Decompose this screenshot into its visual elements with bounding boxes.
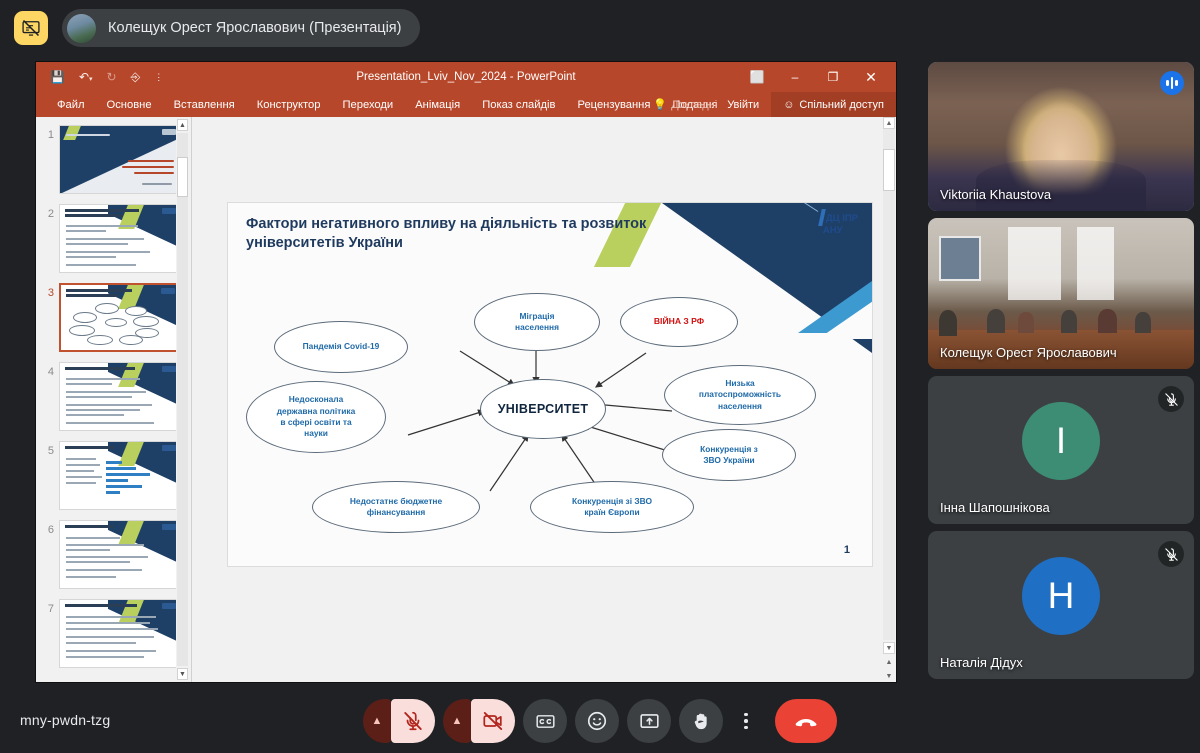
diagram-node-migration[interactable]: Міграція населення xyxy=(474,293,600,351)
slide-page-number: 1 xyxy=(844,544,850,556)
thumbnail-item-7[interactable]: 7 xyxy=(36,599,191,678)
previous-slide-button[interactable]: ▲ xyxy=(883,656,895,668)
thumbnail-preview[interactable] xyxy=(59,362,181,431)
participant-name: Наталія Дідух xyxy=(940,655,1023,670)
present-screen-icon xyxy=(639,711,660,732)
ribbon-tab-insert[interactable]: Вставлення xyxy=(163,99,246,111)
camera-off-icon xyxy=(482,710,504,732)
microphone-toggle[interactable] xyxy=(391,699,435,743)
camera-toggle[interactable] xyxy=(471,699,515,743)
diagram-node-competition-eu[interactable]: Конкуренція зі ЗВО країн Європи xyxy=(530,481,694,533)
hand-icon xyxy=(691,711,712,732)
participant-tile-koleshchuk[interactable]: Колещук Орест Ярославович xyxy=(928,218,1194,369)
thumbnail-preview[interactable] xyxy=(59,125,181,194)
scroll-down-icon[interactable]: ▼ xyxy=(177,668,188,680)
node-label: Пандемія Covid-19 xyxy=(303,341,380,352)
call-controls: ▲ ▲ xyxy=(363,699,837,743)
save-icon[interactable]: 💾 xyxy=(50,71,65,83)
scrollbar-track[interactable] xyxy=(177,133,188,666)
participant-tile-nataliia[interactable]: Н Наталія Дідух xyxy=(928,531,1194,679)
ribbon-tab-strip: Файл Основне Вставлення Конструктор Пере… xyxy=(36,92,896,117)
thumbnail-item-6[interactable]: 6 xyxy=(36,520,191,599)
share-label: Спільний доступ xyxy=(799,99,884,111)
node-label: УНІВЕРСИТЕТ xyxy=(498,401,589,418)
participant-name: Інна Шапошнікова xyxy=(940,500,1050,515)
thumbnail-item-4[interactable]: 4 xyxy=(36,362,191,441)
thumbnail-number: 4 xyxy=(40,366,54,378)
next-slide-button[interactable]: ▼ xyxy=(883,670,895,682)
speaking-indicator-icon xyxy=(1160,71,1184,95)
ribbon-tab-review[interactable]: Рецензування xyxy=(566,99,661,111)
diagram-node-budget[interactable]: Недостатнє бюджетне фінансування xyxy=(312,481,480,533)
ribbon-right-group: 💡 Докладні Увійти ☺ Спільний доступ xyxy=(653,92,896,117)
present-now-button[interactable] xyxy=(627,699,671,743)
tell-me-label: Докладні xyxy=(671,99,717,111)
diagram-node-solvency[interactable]: Низька платоспроможність населення xyxy=(664,365,816,425)
scrollbar-track[interactable] xyxy=(883,129,895,640)
hangup-icon xyxy=(793,708,819,734)
tell-me-search[interactable]: 💡 Докладні xyxy=(653,98,727,111)
participant-name: Viktoriia Khaustova xyxy=(940,187,1051,202)
mic-off-glyph xyxy=(1164,392,1179,407)
thumbnail-number: 1 xyxy=(40,129,54,141)
mic-options-chevron[interactable]: ▲ xyxy=(363,699,391,743)
emoji-icon xyxy=(586,710,608,732)
node-label: Низька платоспроможність населення xyxy=(699,378,781,412)
presenter-chip-label: Колещук Орест Ярославович (Презентація) xyxy=(108,20,402,36)
microphone-group: ▲ xyxy=(363,699,435,743)
thumbnail-pane-scrollbar[interactable]: ▲ ▼ xyxy=(176,119,189,680)
scroll-up-icon[interactable]: ▲ xyxy=(883,117,895,129)
customize-qat-icon[interactable]: ⋮ xyxy=(154,73,163,82)
thumbnail-preview-active[interactable] xyxy=(59,283,181,352)
thumbnail-preview[interactable] xyxy=(59,599,181,668)
captions-button[interactable] xyxy=(523,699,567,743)
scrollbar-thumb[interactable] xyxy=(177,157,188,197)
ribbon-display-options-button[interactable]: ⬜ xyxy=(738,63,776,91)
raise-hand-button[interactable] xyxy=(679,699,723,743)
meeting-code: mny-pwdn-tzg xyxy=(20,712,110,728)
avatar-initial: Н xyxy=(1048,575,1075,617)
node-label: Міграція населення xyxy=(515,311,559,334)
camera-options-chevron[interactable]: ▲ xyxy=(443,699,471,743)
minimize-button[interactable]: – xyxy=(776,63,814,91)
slide-editing-stage[interactable]: ДЦ ІПР АНУ Фактори негативного впливу на… xyxy=(192,117,896,682)
thumbnail-number: 2 xyxy=(40,208,54,220)
thumbnail-item-1[interactable]: 1 xyxy=(36,125,191,204)
participant-tile-inna[interactable]: І Інна Шапошнікова xyxy=(928,376,1194,524)
thumbnail-item-2[interactable]: 2 xyxy=(36,204,191,283)
ribbon-tab-home[interactable]: Основне xyxy=(96,99,163,111)
node-label: Конкуренція з ЗВО України xyxy=(700,444,758,467)
thumbnail-item-3[interactable]: 3 xyxy=(36,283,191,362)
diagram-node-university[interactable]: УНІВЕРСИТЕТ xyxy=(480,379,606,439)
ppt-workspace: 1 2 xyxy=(36,117,896,682)
undo-icon[interactable]: ↶▾ xyxy=(79,71,93,83)
window-controls: ⬜ – ❐ ✕ xyxy=(738,63,890,91)
scroll-down-icon[interactable]: ▼ xyxy=(883,642,895,654)
ribbon-tab-slideshow[interactable]: Показ слайдів xyxy=(471,99,566,111)
slide-stage-scrollbar[interactable]: ▲ ▼ ▲ ▼ xyxy=(882,117,896,682)
mic-muted-icon xyxy=(1158,386,1184,412)
thumbnail-number: 3 xyxy=(40,287,54,299)
thumbnail-preview[interactable] xyxy=(59,520,181,589)
thumbnail-number: 5 xyxy=(40,445,54,457)
reactions-button[interactable] xyxy=(575,699,619,743)
share-button[interactable]: ☺ Спільний доступ xyxy=(771,92,896,117)
present-stop-icon xyxy=(21,18,41,38)
diagram-node-state-policy[interactable]: Недосконала державна політика в сфері ос… xyxy=(246,381,386,453)
presenting-topbar: Колещук Орест Ярославович (Презентація) xyxy=(0,0,1200,56)
leave-call-button[interactable] xyxy=(775,699,837,743)
ribbon-tab-file[interactable]: Файл xyxy=(46,99,96,111)
sign-in-button[interactable]: Увійти xyxy=(727,99,771,111)
scrollbar-thumb[interactable] xyxy=(883,149,895,191)
slide-thumbnail-pane[interactable]: 1 2 xyxy=(36,117,191,682)
node-label: Недосконала державна політика в сфері ос… xyxy=(277,394,356,439)
mic-muted-icon xyxy=(1158,541,1184,567)
node-label: Недостатнє бюджетне фінансування xyxy=(350,496,442,519)
thumbnail-number: 7 xyxy=(40,603,54,615)
node-label: Конкуренція зі ЗВО країн Європи xyxy=(572,496,652,519)
restore-button[interactable]: ❐ xyxy=(814,63,852,91)
thumbnail-preview[interactable] xyxy=(59,204,181,273)
presenter-avatar xyxy=(67,14,96,43)
thumbnail-item-5[interactable]: 5 xyxy=(36,441,191,520)
scroll-up-icon[interactable]: ▲ xyxy=(177,119,188,131)
presenter-chip[interactable]: Колещук Орест Ярославович (Презентація) xyxy=(62,9,420,47)
participant-list: Viktoriia Khaustova Колещук Орест Яросла… xyxy=(928,62,1194,686)
thumbnail-preview[interactable] xyxy=(59,441,181,510)
diagram-node-competition-ua[interactable]: Конкуренція з ЗВО України xyxy=(662,429,796,481)
ribbon-tab-design[interactable]: Конструктор xyxy=(246,99,332,111)
node-label: ВІЙНА З РФ xyxy=(654,316,704,328)
start-slideshow-icon[interactable]: ⎆ xyxy=(131,71,141,83)
mic-off-glyph xyxy=(1164,547,1179,562)
stop-presenting-button[interactable] xyxy=(14,11,48,45)
ribbon-tab-animations[interactable]: Анімація xyxy=(404,99,471,111)
shared-powerpoint-window: 💾 ↶▾ ↻ ⎆ ⋮ Presentation_Lviv_Nov_2024 - … xyxy=(36,62,896,682)
meet-window: Колещук Орест Ярославович (Презентація) … xyxy=(0,0,1200,753)
participant-name: Колещук Орест Ярославович xyxy=(940,345,1117,360)
person-icon: ☺ xyxy=(783,99,794,111)
diagram-node-war[interactable]: ВІЙНА З РФ xyxy=(620,297,738,347)
quick-access-toolbar: 💾 ↶▾ ↻ ⎆ ⋮ xyxy=(36,71,163,83)
ppt-title-bar: 💾 ↶▾ ↻ ⎆ ⋮ Presentation_Lviv_Nov_2024 - … xyxy=(36,62,896,92)
avatar: Н xyxy=(1022,557,1100,635)
diagram-nodes: Міграція населення ВІЙНА З РФ Пандемія C… xyxy=(228,203,872,566)
ribbon-tab-transitions[interactable]: Переходи xyxy=(332,99,405,111)
meeting-control-bar: mny-pwdn-tzg ▲ ▲ xyxy=(0,690,1200,753)
avatar: І xyxy=(1022,402,1100,480)
thumbnail-number: 6 xyxy=(40,524,54,536)
camera-group: ▲ xyxy=(443,699,515,743)
diagram-node-covid[interactable]: Пандемія Covid-19 xyxy=(274,321,408,373)
lightbulb-icon: 💡 xyxy=(653,98,667,111)
close-button[interactable]: ✕ xyxy=(852,63,890,91)
more-vertical-icon xyxy=(744,713,748,730)
cc-icon xyxy=(535,711,556,732)
mic-off-icon xyxy=(402,710,424,732)
participant-tile-viktoriia[interactable]: Viktoriia Khaustova xyxy=(928,62,1194,211)
more-options-button[interactable] xyxy=(731,699,761,743)
avatar-initial: І xyxy=(1056,420,1066,462)
redo-icon[interactable]: ↻ xyxy=(107,71,117,83)
current-slide[interactable]: ДЦ ІПР АНУ Фактори негативного впливу на… xyxy=(228,203,872,566)
